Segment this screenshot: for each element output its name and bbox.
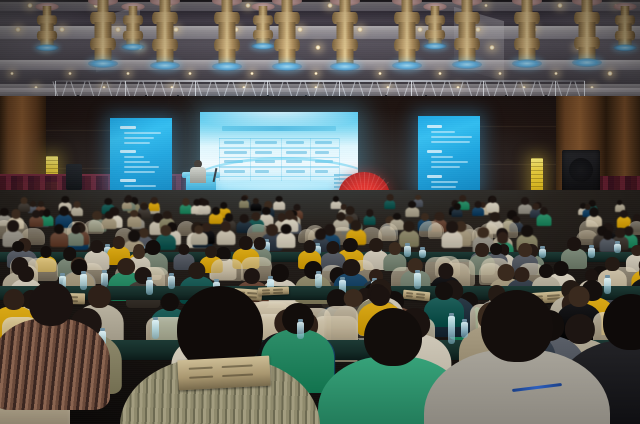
water-bottle — [614, 244, 621, 252]
attendee-head — [393, 213, 401, 221]
audience-member — [30, 210, 43, 228]
pendant-light — [272, 0, 302, 58]
attendee-shoulders — [472, 207, 484, 216]
attendee-shoulders — [122, 202, 132, 210]
attendee-shoulders — [273, 201, 285, 210]
water-bottle — [419, 250, 426, 258]
attendee-head — [19, 266, 35, 282]
display-text-line — [124, 161, 150, 163]
left-side-display — [110, 118, 172, 194]
pendant-shaft — [399, 22, 416, 39]
audience-member — [120, 286, 320, 424]
main-projection-screen — [200, 112, 358, 198]
loudspeaker-left — [66, 164, 82, 190]
pendant-light — [88, 0, 118, 52]
attendee-shoulders — [441, 231, 462, 248]
display-heading-line — [427, 125, 442, 128]
attendee-head — [521, 197, 529, 205]
truss-chord — [55, 80, 585, 82]
attendee-head — [631, 245, 640, 257]
audience-member — [441, 221, 462, 250]
ceiling-downlight — [27, 3, 32, 7]
attendee-shoulders — [30, 216, 43, 227]
attendee-head — [477, 227, 489, 239]
bottle-cap — [102, 270, 107, 273]
pendant-shaft — [95, 22, 112, 38]
audience-member — [102, 211, 117, 231]
attendee-head — [241, 196, 247, 202]
conference-hall-photo — [0, 0, 640, 424]
attendee-head — [616, 228, 626, 238]
attendee-head — [276, 196, 283, 203]
audience-member — [424, 290, 610, 424]
display-text-line — [431, 186, 456, 188]
ceiling-downlight — [607, 71, 612, 75]
water-bottle — [588, 248, 595, 258]
audience-member — [127, 210, 140, 228]
attendee-shoulders — [198, 205, 210, 214]
attendee-head — [387, 194, 394, 201]
attendee-head — [589, 207, 598, 216]
pendant-shaft — [256, 23, 269, 30]
attendee-head — [20, 197, 27, 204]
attendee-head — [92, 211, 102, 221]
bottle-cap — [420, 247, 425, 250]
attendee-shoulders — [191, 232, 207, 245]
attendee-head — [303, 240, 316, 253]
attendee-head — [364, 308, 422, 366]
pendant-shaft — [157, 22, 174, 39]
pendant-light — [330, 0, 360, 58]
pendant-glow — [35, 44, 58, 51]
attendee-head — [40, 246, 51, 257]
pendant-light — [452, 0, 482, 54]
ceiling-downlight — [245, 3, 251, 7]
attendee-head — [54, 224, 64, 234]
attendee-head — [490, 212, 500, 222]
attendee-head — [416, 195, 422, 201]
audience-member — [0, 282, 110, 418]
attendee-head — [271, 264, 289, 282]
pendant-glow — [423, 43, 446, 50]
presenter — [190, 160, 206, 182]
display-text-line — [431, 156, 453, 158]
pendant-glow — [392, 61, 422, 70]
attendee-head — [370, 286, 390, 306]
attendee-head — [205, 246, 217, 258]
pendant-glow — [330, 62, 360, 71]
attendee-head — [33, 210, 41, 218]
right-side-display — [418, 116, 480, 192]
bottle-cap — [615, 241, 620, 244]
pendant-shaft — [337, 22, 354, 39]
attendee-head — [163, 211, 172, 220]
bottle-cap — [214, 279, 219, 282]
bottle-cap — [60, 273, 65, 276]
attendee-head — [105, 211, 114, 220]
bottle-cap — [415, 270, 420, 273]
audience-member — [273, 196, 285, 212]
display-text-line — [431, 136, 472, 138]
attendee-head — [605, 257, 619, 271]
bottle-cap — [147, 277, 152, 280]
display-text-line — [124, 156, 144, 158]
pendant-glow — [121, 43, 144, 50]
attendee-head — [475, 201, 482, 208]
audience-member — [486, 196, 499, 213]
pendant-light — [572, 0, 602, 50]
attendee-shoulders — [50, 232, 68, 246]
audience-member — [472, 201, 484, 217]
attendee-head — [212, 207, 220, 215]
pendant-light — [392, 0, 422, 56]
attendee-shoulders — [276, 232, 295, 248]
attendee-head — [617, 200, 623, 206]
attendee-head — [336, 212, 345, 221]
attendee-head — [140, 203, 148, 211]
handout-line — [189, 367, 213, 370]
attendee-head — [343, 259, 360, 276]
attendee-head — [435, 212, 444, 221]
attendee-head — [220, 221, 231, 232]
audience-member — [198, 199, 210, 214]
attendee-head — [370, 238, 384, 252]
handout-line — [189, 376, 213, 379]
bottle-cap — [81, 271, 86, 274]
attendee-head — [12, 241, 24, 253]
display-heading-line — [120, 179, 136, 182]
attendee-shoulders — [102, 218, 117, 230]
display-text-line — [124, 132, 161, 134]
display-heading-line — [427, 150, 442, 153]
attendee-head — [351, 220, 362, 231]
ceiling-downlight — [489, 45, 495, 50]
ceiling-downlight — [557, 3, 562, 7]
pendant-shaft — [279, 22, 296, 39]
attendee-head — [514, 267, 529, 282]
audience-member — [536, 207, 551, 227]
slide-title-bar — [222, 126, 336, 131]
pendant-glow — [150, 61, 180, 70]
display-text-line — [124, 171, 155, 173]
attendee-head — [497, 232, 509, 244]
pendant-shaft — [126, 23, 139, 30]
attendee-head — [446, 221, 458, 233]
pendant-shaft — [428, 23, 441, 30]
attendee-head — [130, 210, 138, 218]
pendant-shaft — [40, 23, 53, 31]
attendee-head — [124, 197, 130, 203]
attendee-head — [539, 207, 548, 216]
pendant-shaft — [618, 23, 631, 31]
attendee-head — [201, 199, 208, 206]
attendee-head — [518, 243, 532, 257]
display-text-line — [431, 161, 468, 163]
attendee-shoulders — [127, 216, 140, 227]
pendant-glow — [212, 62, 242, 71]
audience-member — [276, 224, 295, 250]
attendee-head — [59, 206, 69, 216]
attendee-shoulders — [452, 209, 463, 217]
audience-member — [452, 203, 463, 218]
display-heading-line — [120, 126, 136, 129]
attendee-shoulders — [486, 202, 499, 211]
display-text-line — [124, 137, 154, 139]
attendee-shoulders — [239, 200, 249, 207]
attendee-head — [74, 201, 81, 208]
display-text-line — [431, 131, 455, 133]
handout-line — [222, 374, 253, 378]
ceiling-downlight — [315, 45, 320, 49]
attendee-shoulders — [384, 200, 396, 209]
pendant-light — [35, 6, 58, 33]
pendant-shaft — [519, 22, 536, 38]
attendee-head — [408, 201, 416, 209]
attendee-head — [568, 237, 582, 251]
pendant-glow — [613, 44, 636, 51]
attendee-head — [244, 268, 260, 284]
attendee-head — [7, 220, 19, 232]
pendant-light — [613, 6, 636, 33]
printed-handout — [177, 356, 270, 391]
pendant-shaft — [459, 22, 476, 38]
pendant-light — [150, 0, 180, 56]
pendant-light — [121, 6, 144, 31]
display-text-line — [431, 141, 470, 143]
handout-line — [222, 365, 253, 369]
attendee-head — [240, 214, 249, 223]
pendant-light — [212, 0, 242, 58]
bottle-cap — [340, 277, 345, 280]
bottle-cap — [169, 273, 174, 276]
audience-member — [50, 224, 68, 248]
water-bottle — [414, 273, 421, 289]
attendee-head — [481, 290, 553, 362]
bottle-cap — [605, 275, 610, 278]
display-text-line — [431, 166, 460, 168]
attendee-shoulders — [67, 232, 84, 245]
pendant-glow — [88, 59, 118, 68]
audience-member — [384, 194, 396, 209]
audience-member — [122, 197, 132, 211]
display-heading-line — [120, 150, 136, 153]
pendant-glow — [512, 59, 542, 68]
audience — [0, 190, 640, 424]
attendee-shoulders — [536, 214, 551, 226]
bottle-cap — [316, 271, 321, 274]
pendant-glow — [572, 58, 602, 67]
ceiling-downlight — [15, 27, 21, 32]
display-heading-line — [427, 175, 442, 178]
attendee-head — [29, 282, 73, 326]
attendee-head — [404, 221, 415, 232]
attendee-head — [620, 210, 628, 218]
attendee-head — [521, 225, 533, 237]
display-text-line — [431, 181, 458, 183]
audience-member — [67, 225, 84, 248]
presenter-torso — [190, 167, 206, 183]
attendee-head — [179, 244, 190, 255]
attendee-head — [285, 210, 295, 220]
bottle-cap — [589, 245, 594, 248]
attendee-head — [327, 241, 340, 254]
attendee-head — [539, 264, 553, 278]
bottle-cap — [268, 276, 273, 279]
pendant-light — [512, 0, 542, 52]
attendee-shoulders — [0, 318, 110, 410]
display-text-line — [124, 185, 156, 187]
attendee-head — [11, 209, 20, 218]
pendant-glow — [452, 60, 482, 69]
attendee-head — [252, 212, 261, 221]
pendant-light — [423, 6, 446, 29]
pendant-glow — [272, 62, 302, 71]
display-text-line — [124, 166, 159, 168]
attendee-head — [281, 224, 292, 235]
pendant-shaft — [579, 22, 596, 37]
pendant-shaft — [219, 22, 236, 39]
audience-member — [239, 196, 249, 209]
display-text-line — [124, 142, 150, 144]
attendee-head — [475, 243, 489, 257]
